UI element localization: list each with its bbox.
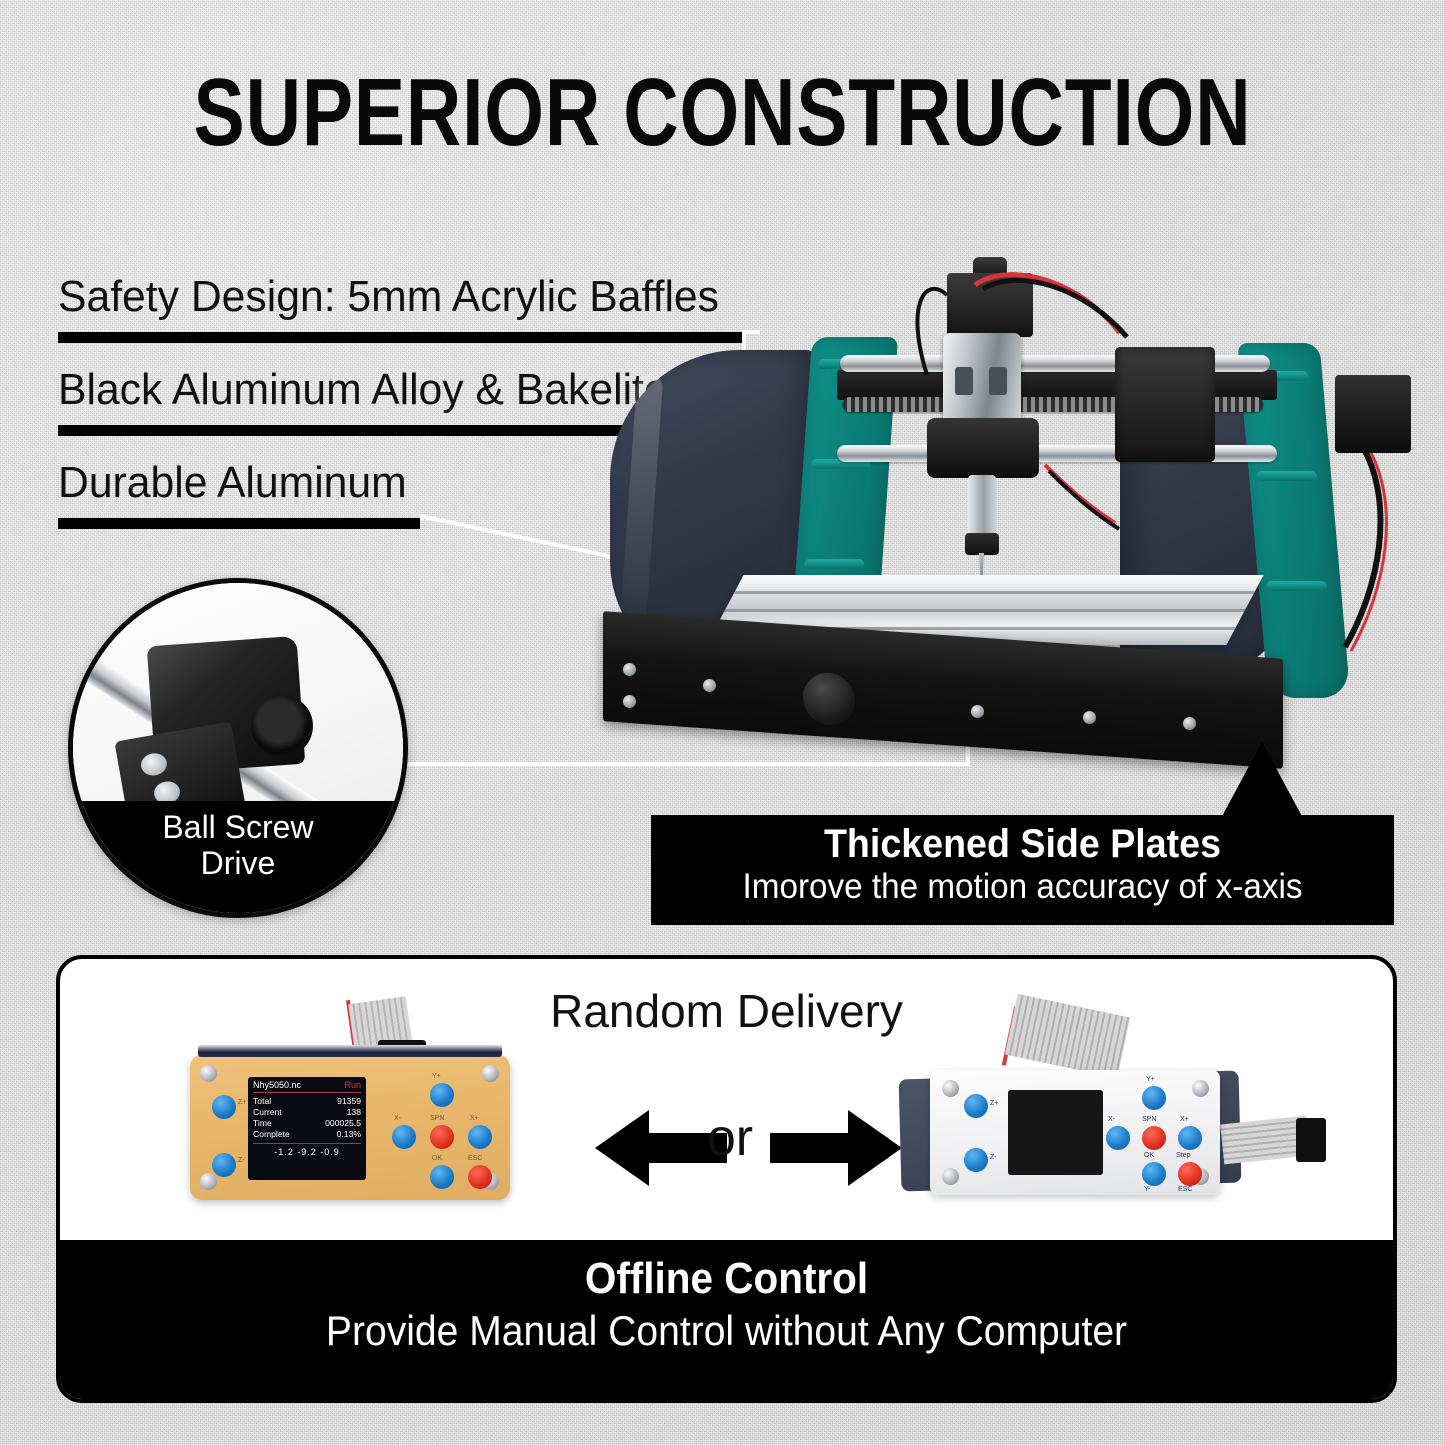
controller-button-label: Z+ — [238, 1099, 246, 1106]
arrow-right-shaft — [770, 1133, 848, 1163]
lcd-filename: Nhy5050.nc — [253, 1080, 301, 1090]
controller-screw — [200, 1173, 217, 1190]
controller-button-esc[interactable] — [468, 1165, 492, 1189]
controller-button-z-minus[interactable] — [212, 1153, 236, 1177]
side-plate-slot — [1266, 581, 1327, 591]
controller-screw — [200, 1065, 217, 1082]
ball-screw-inset: Ball Screw Drive — [68, 578, 408, 918]
bed-groove — [734, 591, 1256, 594]
offline-controller-left: Nhy5050.nc Run Total 91359 Current 138 T… — [190, 1055, 510, 1200]
controller-right-button-y-plus[interactable] — [1142, 1086, 1166, 1110]
controller-button-label: OK — [432, 1155, 442, 1162]
controller-button-label: ESC — [468, 1155, 482, 1162]
x-axis-stepper-motor-right — [1335, 375, 1411, 453]
controller-button-x-plus[interactable] — [468, 1125, 492, 1149]
x-axis-carriage — [1115, 347, 1215, 462]
controller-right-button-ok[interactable] — [1142, 1162, 1166, 1186]
controller-right-button-label: X+ — [1180, 1116, 1189, 1123]
controller-right-button-label: X- — [1108, 1116, 1115, 1123]
controller-right-button-z-plus[interactable] — [964, 1094, 988, 1118]
controller-right-button-label: OK — [1144, 1152, 1154, 1159]
collet-nut — [965, 533, 999, 555]
arrow-left-head — [595, 1110, 649, 1186]
controller-right-button-x-minus[interactable] — [1106, 1126, 1130, 1150]
controller-right-button-label: Step — [1176, 1152, 1190, 1159]
lcd-row-current: Current 138 — [253, 1107, 361, 1118]
inset-caption-line2: Drive — [73, 845, 403, 881]
thickened-side-plates-banner: Thickened Side Plates Imorove the motion… — [651, 815, 1394, 925]
ball-bearing — [251, 695, 313, 757]
lcd-divider — [253, 1092, 361, 1093]
ribbon-connector-side — [1296, 1118, 1326, 1162]
lcd-row-value: 138 — [347, 1107, 361, 1118]
bed-groove — [724, 609, 1246, 612]
arrow-right-head — [848, 1110, 902, 1186]
controller-screw — [942, 1168, 959, 1185]
side-plate-slot — [804, 559, 865, 569]
spindle-vent — [989, 367, 1007, 395]
cnc-machine-illustration — [575, 255, 1420, 775]
lcd-row-value: 0.13% — [337, 1129, 361, 1140]
controller-right-button-label: Z- — [990, 1154, 997, 1161]
panel-subline: Provide Manual Control without Any Compu… — [107, 1306, 1347, 1356]
controller-button-y-plus[interactable] — [430, 1083, 454, 1107]
controller-right-button-spn[interactable] — [1142, 1126, 1166, 1150]
or-label: or — [690, 1108, 770, 1168]
controller-button-label: X+ — [470, 1115, 479, 1122]
lcd-row-key: Current — [253, 1107, 282, 1118]
controller-button-label: X- — [394, 1115, 401, 1122]
controller-screw — [1192, 1080, 1209, 1097]
controller-right-button-label: Y- — [1144, 1186, 1150, 1193]
base-screw — [971, 705, 984, 718]
z-axis-stepper-motor — [947, 273, 1033, 337]
controller-button-ok[interactable] — [430, 1165, 454, 1189]
spindle-vent — [955, 367, 973, 395]
lcd-status: Run — [344, 1080, 361, 1090]
lcd-row-total: Total 91359 — [253, 1096, 361, 1107]
offline-control-caption-band: Offline Control Provide Manual Control w… — [60, 1240, 1393, 1399]
offline-controller-right: Z+ Z- Y+ X- SPN X+ OK Step Y- ESC — [930, 1070, 1220, 1195]
controller-right-button-step[interactable] — [1178, 1162, 1202, 1186]
controller-button-x-minus[interactable] — [392, 1125, 416, 1149]
lcd-coordinates: -1.2 -9.2 -0.9 — [253, 1143, 361, 1157]
controller-button-label: SPN — [430, 1115, 444, 1122]
controller-right-button-z-minus[interactable] — [964, 1148, 988, 1172]
mount-hole — [139, 751, 168, 777]
controller-right-button-label: Z+ — [990, 1100, 998, 1107]
lcd-row-complete: Complete 0.13% — [253, 1129, 361, 1140]
controller-button-z-plus[interactable] — [212, 1095, 236, 1119]
panel-headline: Offline Control — [113, 1240, 1339, 1306]
banner-headline: Thickened Side Plates — [673, 815, 1371, 867]
controller-button-spn[interactable] — [430, 1125, 454, 1149]
lcd-row-time: Time 000025.5 — [253, 1118, 361, 1129]
lcd-row-key: Time — [253, 1118, 272, 1129]
inset-caption-line1: Ball Screw — [73, 801, 403, 845]
side-plate-slot — [1257, 471, 1318, 481]
banner-pointer-arrow — [1220, 742, 1304, 820]
arrow-right — [770, 1110, 902, 1186]
lcd-row-value: 91359 — [337, 1096, 361, 1107]
controller-lcd-screen: Nhy5050.nc Run Total 91359 Current 138 T… — [248, 1077, 366, 1180]
spindle-clamp — [927, 418, 1039, 478]
controller-button-label: Y+ — [432, 1073, 441, 1080]
lcd-header: Nhy5050.nc Run — [253, 1080, 361, 1090]
controller-button-label: Z- — [238, 1157, 245, 1164]
lcd-row-value: 000025.5 — [325, 1118, 361, 1129]
controller-screw — [482, 1065, 499, 1082]
controller-top-strip — [198, 1045, 502, 1057]
controller-screw — [942, 1080, 959, 1097]
base-screw — [623, 663, 636, 676]
lcd-row-key: Complete — [253, 1129, 290, 1140]
controller-right-button-label: ESC — [1178, 1186, 1192, 1193]
base-screw — [623, 695, 636, 708]
spindle-collet — [968, 475, 996, 537]
banner-subline: Imorove the motion accuracy of x-axis — [670, 867, 1376, 907]
controller-right-button-x-plus[interactable] — [1178, 1126, 1202, 1150]
base-screw — [703, 679, 716, 692]
controller-right-lcd-screen — [1008, 1090, 1103, 1175]
random-delivery-label: Random Delivery — [60, 984, 1393, 1038]
base-screw — [1183, 717, 1196, 730]
base-screw — [1083, 711, 1096, 724]
controller-right-button-label: SPN — [1142, 1116, 1156, 1123]
lcd-row-key: Total — [253, 1096, 271, 1107]
controller-right-button-label: Y+ — [1146, 1076, 1155, 1083]
ball-screw-caption-band: Ball Screw Drive — [73, 801, 403, 913]
